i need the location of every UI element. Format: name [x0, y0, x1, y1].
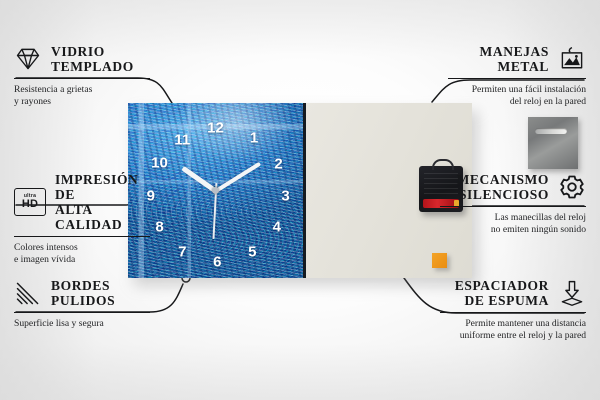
clock-numeral-11: 11 [174, 132, 190, 147]
feature-description: Colores intensos e imagen vívida [14, 242, 150, 266]
feature-underline [448, 78, 586, 79]
feature-description: Permiten una fácil instalación del reloj… [448, 84, 586, 108]
metal-hanger [528, 117, 578, 169]
ultra-hd-icon-bottom: HD [22, 199, 38, 210]
feature-title: ESPACIADOR DE ESPUMA [455, 278, 549, 308]
ultra-hd-icon: ultra HD [14, 188, 46, 216]
clock-numeral-8: 8 [155, 220, 163, 235]
feature-underline [14, 78, 150, 79]
foam-spacer-icon [558, 279, 586, 307]
gear-icon [558, 173, 586, 201]
feature-title: VIDRIO TEMPLADO [51, 44, 134, 74]
diamond-icon [14, 45, 42, 73]
infographic-canvas: 12 1 2 3 4 5 6 7 8 9 10 11 [0, 0, 600, 400]
feature-espaciador-espuma: ESPACIADOR DE ESPUMA Permite mantener un… [440, 278, 586, 342]
mechanism-hanging-loop [432, 159, 454, 170]
feature-vidrio-templado: VIDRIO TEMPLADO Resistencia a grietas y … [14, 44, 150, 108]
clock-numeral-6: 6 [213, 255, 221, 270]
feature-title: MANEJAS METAL [480, 44, 549, 74]
clock-numeral-5: 5 [248, 244, 256, 259]
feature-description: Superficie lisa y segura [14, 318, 150, 330]
feature-mecanismo-silencioso: MECANISMO SILENCIOSO Las manecillas del … [440, 172, 586, 236]
clock-numeral-4: 4 [273, 220, 281, 235]
feature-description: Permite mantener una distancia uniforme … [440, 318, 586, 342]
clock-numeral-12: 12 [207, 120, 224, 135]
clock-numeral-2: 2 [274, 157, 282, 172]
feature-description: Las manecillas del reloj no emiten ningú… [440, 212, 586, 236]
clock-center-cap [212, 187, 219, 194]
foam-spacer [432, 253, 447, 268]
feature-underline [440, 206, 586, 207]
feature-underline [440, 312, 586, 313]
product-image: 12 1 2 3 4 5 6 7 8 9 10 11 [128, 103, 472, 278]
clock-face: 12 1 2 3 4 5 6 7 8 9 10 11 [128, 103, 306, 278]
picture-hanger-icon [558, 45, 586, 73]
clock-numeral-3: 3 [281, 188, 289, 203]
feature-manejas-metal: MANEJAS METAL Permiten una fácil instala… [448, 44, 586, 108]
clock-numeral-1: 1 [250, 131, 258, 146]
feature-description: Resistencia a grietas y rayones [14, 84, 150, 108]
polished-edges-icon [14, 279, 42, 307]
clock-numeral-10: 10 [151, 155, 168, 170]
feature-impresion-alta-calidad: ultra HD IMPRESIÓN DE ALTA CALIDAD Color… [14, 172, 150, 266]
feature-title: IMPRESIÓN DE ALTA CALIDAD [55, 172, 150, 232]
clock-numeral-7: 7 [178, 244, 186, 259]
feature-underline [14, 312, 150, 313]
feature-title: BORDES PULIDOS [51, 278, 115, 308]
feature-underline [14, 236, 150, 237]
feature-bordes-pulidos: BORDES PULIDOS Superficie lisa y segura [14, 278, 150, 330]
feature-title: MECANISMO SILENCIOSO [457, 172, 549, 202]
